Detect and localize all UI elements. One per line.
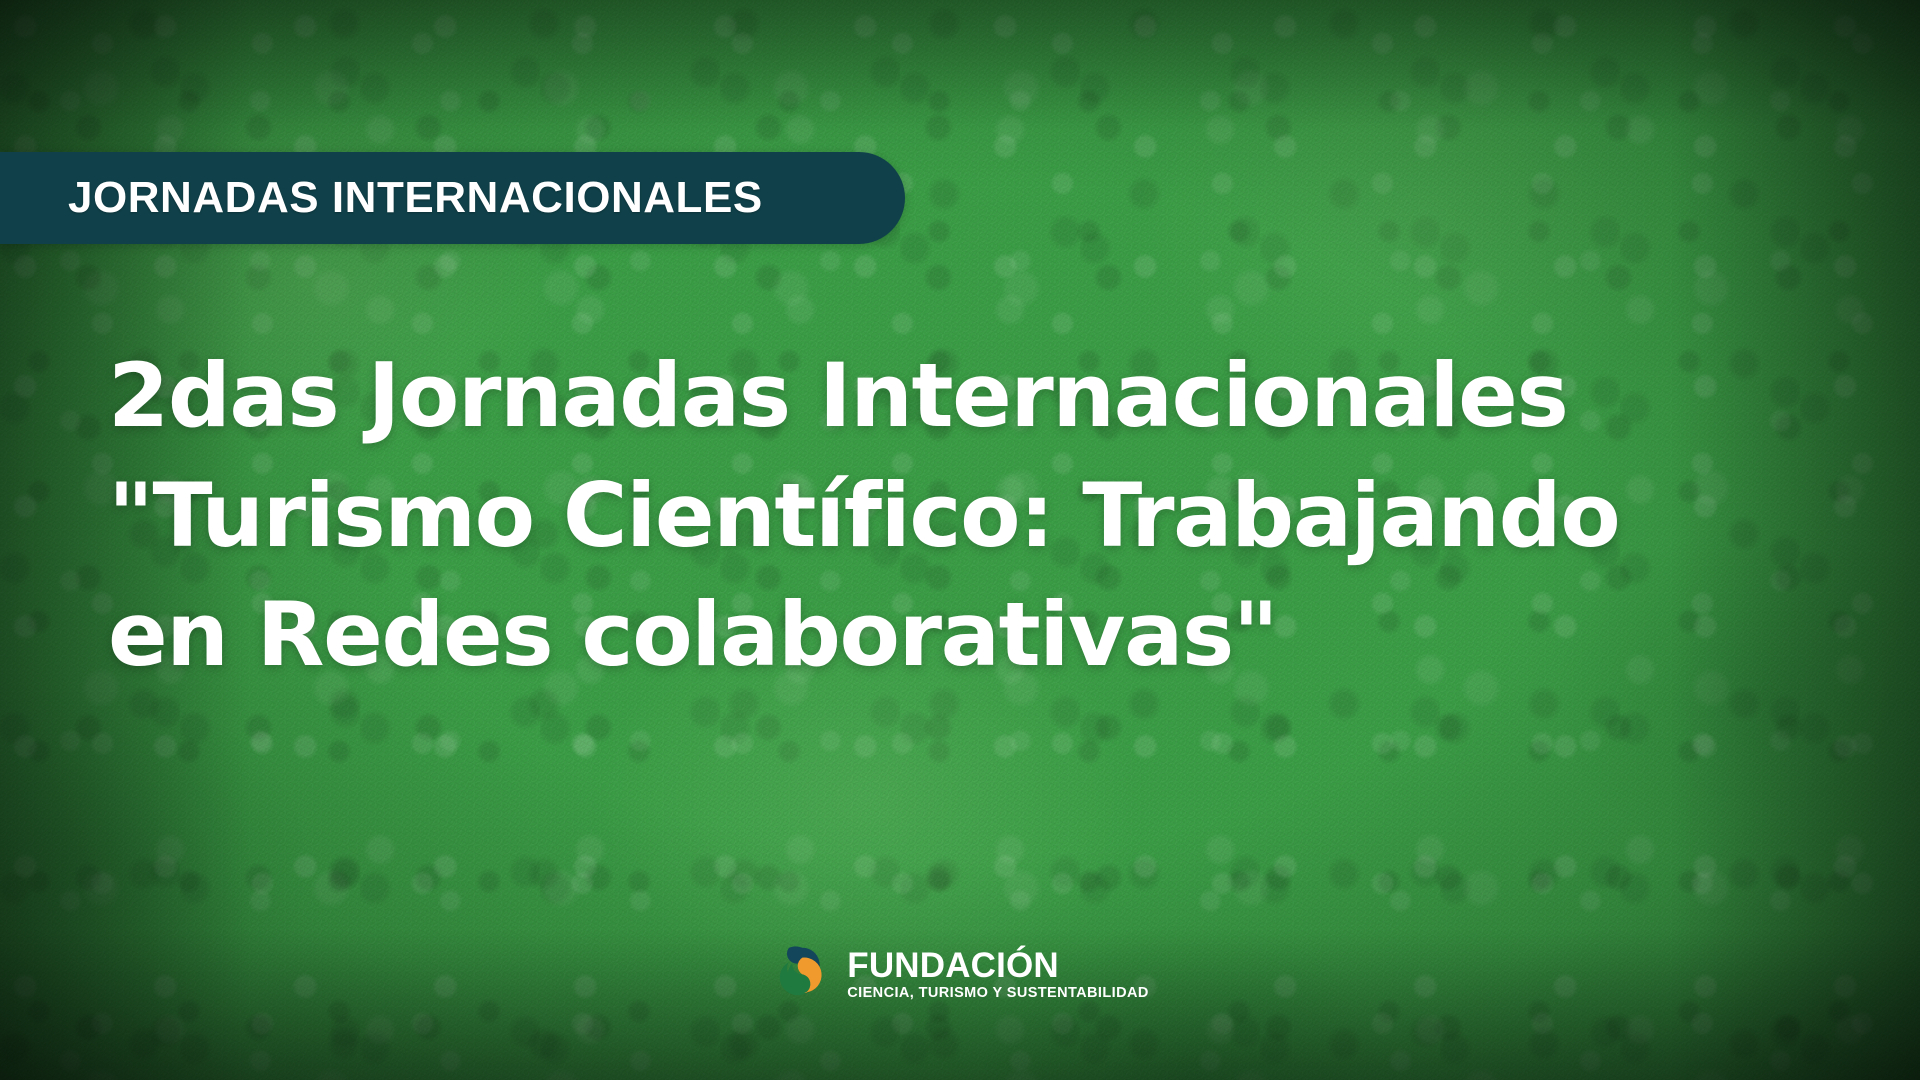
- page-title: 2das Jornadas Internacionales "Turismo C…: [108, 336, 1828, 695]
- eyebrow-label: JORNADAS INTERNACIONALES: [68, 176, 763, 220]
- logo-text-block: FUNDACIÓN CIENCIA, TURISMO Y SUSTENTABIL…: [847, 948, 1148, 1002]
- fundacion-triskelion-logo-icon: [771, 944, 833, 1006]
- headline-line-1: 2das Jornadas Internacionales: [108, 336, 1828, 456]
- slide-canvas: JORNADAS INTERNACIONALES 2das Jornadas I…: [0, 0, 1920, 1080]
- logo-tagline: CIENCIA, TURISMO Y SUSTENTABILIDAD: [847, 986, 1148, 1002]
- headline-line-2: "Turismo Científico: Trabajando: [108, 456, 1828, 576]
- headline-line-3: en Redes colaborativas": [108, 575, 1828, 695]
- eyebrow-badge: JORNADAS INTERNACIONALES: [0, 152, 905, 244]
- logo-wordmark: FUNDACIÓN: [847, 948, 1148, 984]
- footer-logo-lockup: FUNDACIÓN CIENCIA, TURISMO Y SUSTENTABIL…: [771, 944, 1148, 1006]
